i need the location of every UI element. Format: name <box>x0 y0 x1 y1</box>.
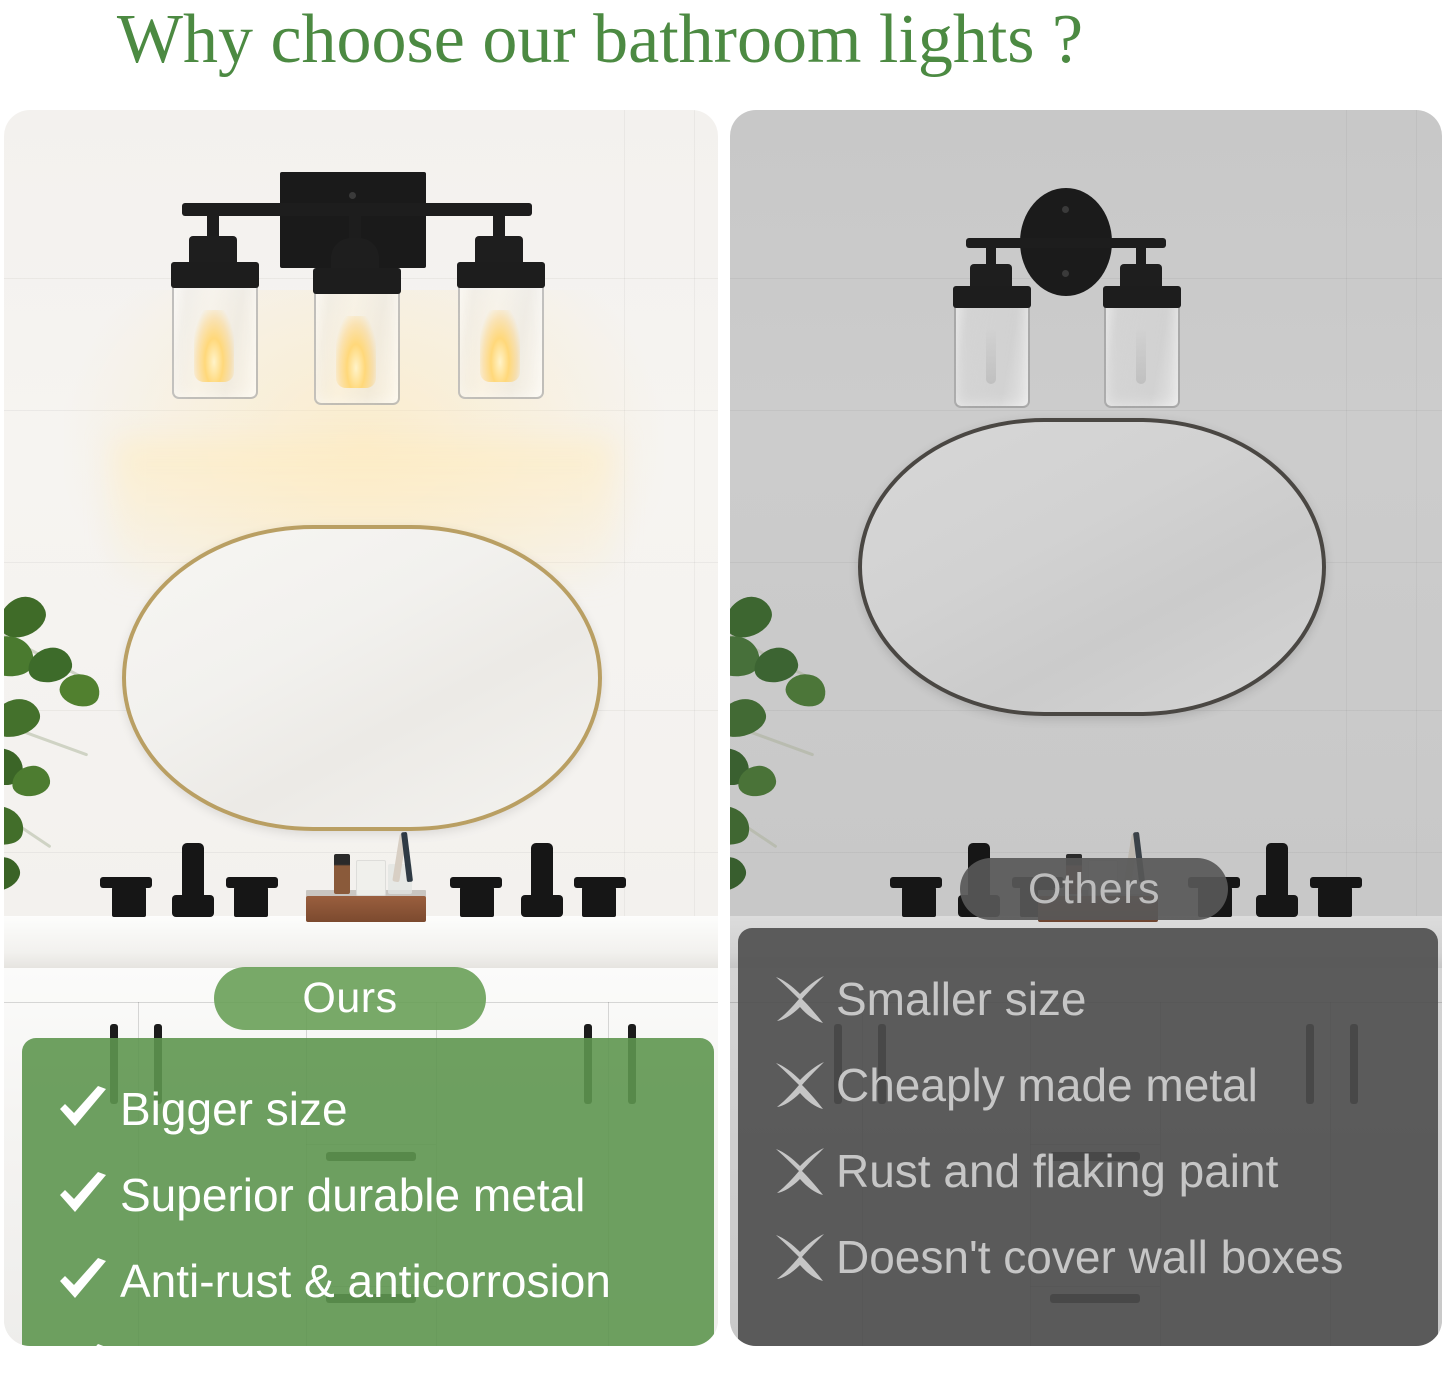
dropper-bottle <box>334 854 350 894</box>
wall-grout-line <box>1416 110 1417 916</box>
light-bulb <box>480 310 520 382</box>
feature-list-ours: Bigger size Superior durable metal Anti-… <box>22 1038 714 1346</box>
wall-grout-line <box>730 410 1442 411</box>
feature-label: Bigger size <box>120 1086 348 1132</box>
check-icon <box>46 1085 120 1133</box>
feature-item: Smaller size <box>738 956 1438 1042</box>
vanity-countertop-ours <box>4 916 718 968</box>
cosmetic-jar <box>356 860 386 896</box>
feature-item: Wider back plate <box>22 1324 714 1346</box>
wall-grout-line <box>624 110 625 916</box>
faucet-base <box>1256 895 1298 917</box>
check-icon <box>46 1257 120 1305</box>
faucet-lever <box>890 877 942 888</box>
faucet-handle <box>112 885 146 917</box>
comparison-panel-others: Others Smaller size Cheaply made metal R… <box>730 110 1442 1346</box>
feature-label: Anti-rust & anticorrosion <box>120 1258 611 1304</box>
wall-grout-line <box>694 110 695 916</box>
faucet-lever <box>100 877 152 888</box>
check-icon <box>46 1171 120 1219</box>
shade-collar <box>171 262 259 288</box>
feature-item: Rust and flaking paint <box>738 1128 1438 1214</box>
feature-label: Superior durable metal <box>120 1172 585 1218</box>
fixture-glass-shade <box>172 262 258 399</box>
feature-label: Cheaply made metal <box>836 1062 1258 1108</box>
light-bulb <box>336 316 376 388</box>
faucet-handle <box>902 885 936 917</box>
badge-others: Others <box>960 858 1228 920</box>
feature-label: Smaller size <box>836 976 1087 1022</box>
wooden-tray <box>306 896 426 922</box>
fixture-screw-icon <box>349 192 356 199</box>
light-bulb <box>1136 328 1146 384</box>
cross-icon <box>762 1060 836 1110</box>
feature-label: Wider back plate <box>120 1344 463 1346</box>
shade-collar <box>1103 286 1181 308</box>
fixture-glass-shade <box>314 268 400 405</box>
faucet-base <box>172 895 214 917</box>
feature-item: Anti-rust & anticorrosion <box>22 1238 714 1324</box>
wall-grout-line <box>1346 110 1347 916</box>
light-bulb <box>986 328 996 384</box>
comparison-panel-ours: Ours Bigger size Superior durable metal … <box>4 110 718 1346</box>
feature-list-others: Smaller size Cheaply made metal Rust and… <box>738 928 1438 1346</box>
check-icon <box>46 1343 120 1346</box>
wall-grout-line <box>4 852 718 853</box>
faucet-base <box>521 895 563 917</box>
fixture-glass-shade <box>1104 286 1180 408</box>
feature-label: Doesn't cover wall boxes <box>836 1234 1343 1280</box>
page-title: Why choose our bathroom lights ? <box>0 0 1200 84</box>
feature-item: Superior durable metal <box>22 1152 714 1238</box>
wall-grout-line <box>730 852 1442 853</box>
shade-collar <box>953 286 1031 308</box>
faucet-handle <box>234 885 268 917</box>
faucet-lever <box>574 877 626 888</box>
faucet-lever <box>450 877 502 888</box>
faucet-lever <box>1310 877 1362 888</box>
cross-icon <box>762 1232 836 1282</box>
faucet-handle <box>1318 885 1352 917</box>
feature-item: Cheaply made metal <box>738 1042 1438 1128</box>
fixture-screw-icon <box>1062 270 1069 277</box>
faucet-lever <box>226 877 278 888</box>
bathroom-mirror-others <box>858 418 1326 716</box>
shade-collar <box>457 262 545 288</box>
feature-label: Rust and flaking paint <box>836 1148 1278 1194</box>
wall-grout-line <box>4 410 718 411</box>
faucet-handle <box>582 885 616 917</box>
fixture-glass-shade <box>954 286 1030 408</box>
fixture-screw-icon <box>1062 206 1069 213</box>
fixture-stem <box>349 213 361 241</box>
light-bulb <box>194 310 234 382</box>
cross-icon <box>762 1146 836 1196</box>
feature-item: Bigger size <box>22 1066 714 1152</box>
fixture-glass-shade <box>458 262 544 399</box>
faucet-handle <box>460 885 494 917</box>
bathroom-mirror-ours <box>122 525 602 831</box>
feature-item: Doesn't cover wall boxes <box>738 1214 1438 1300</box>
cross-icon <box>762 974 836 1024</box>
badge-ours: Ours <box>214 967 486 1030</box>
shade-collar <box>313 268 401 294</box>
